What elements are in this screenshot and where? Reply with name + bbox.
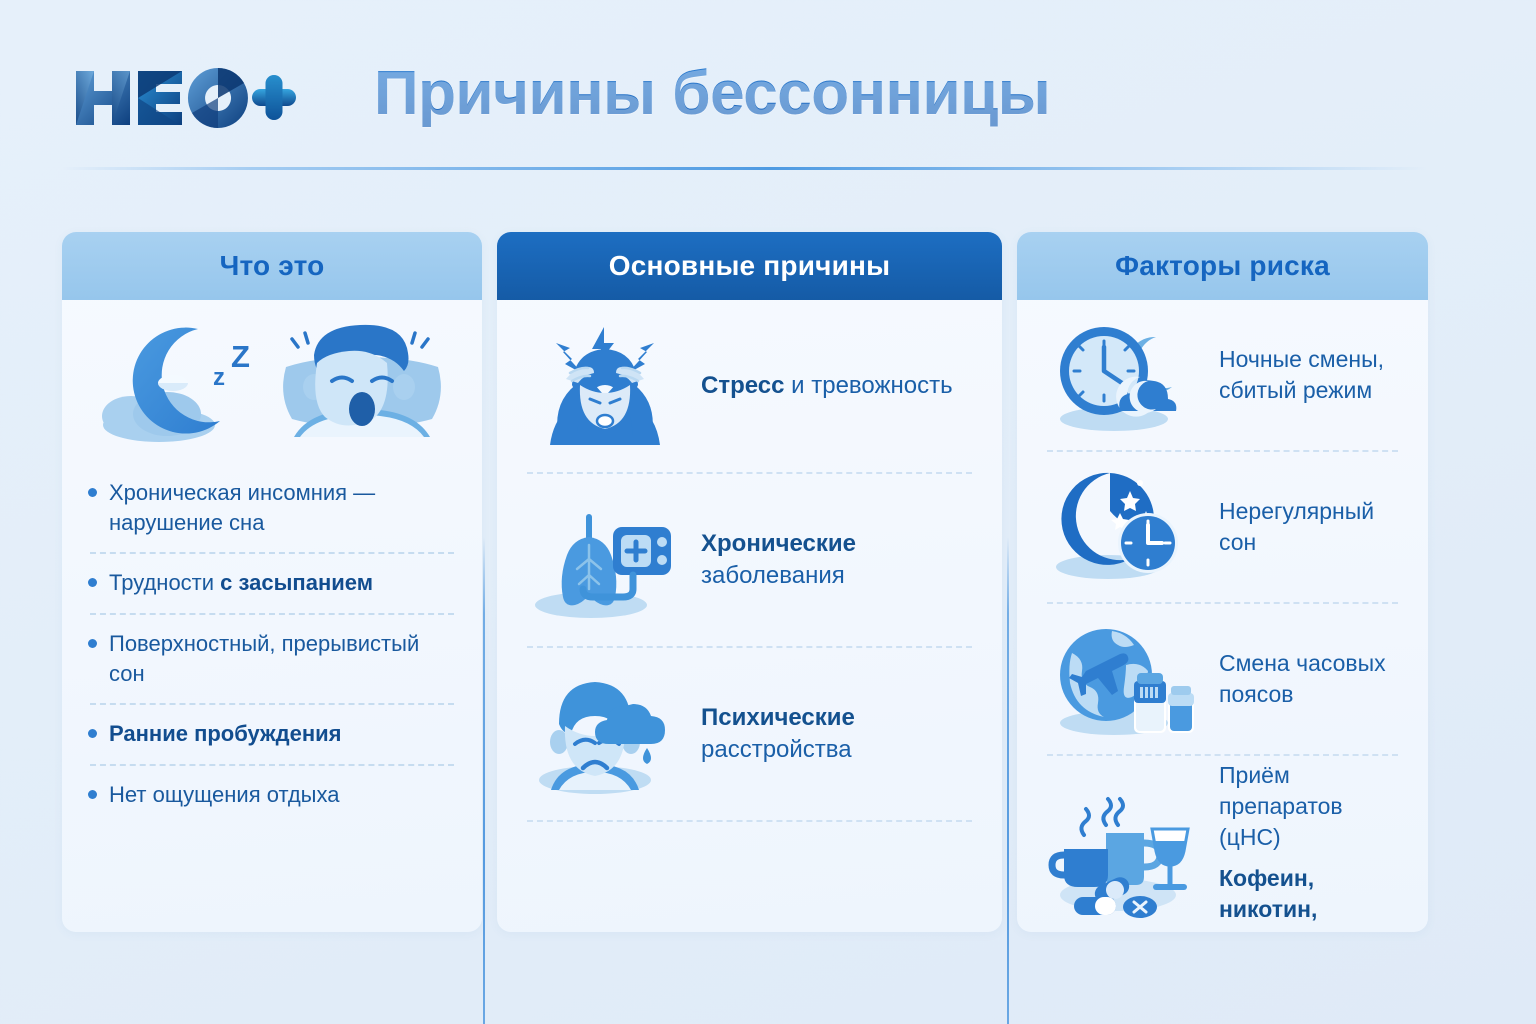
list-item-label: Смена часовых поясов bbox=[1219, 648, 1402, 710]
globe-airplane-pills-icon bbox=[1043, 617, 1203, 741]
svg-text:z: z bbox=[213, 364, 225, 391]
list-item[interactable]: Ранние пробуждения bbox=[88, 705, 456, 764]
list-item[interactable]: Стресс и тревожность bbox=[515, 300, 984, 472]
list-item-label: Поверхностный, прерывистый сон bbox=[109, 629, 456, 688]
card-header-main-causes: Основные причины bbox=[497, 232, 1002, 300]
bullet-dot-icon bbox=[88, 729, 97, 738]
bullet-dot-icon bbox=[88, 790, 97, 799]
card-header-what-is-it: Что это bbox=[62, 232, 482, 300]
bullet-dot-icon bbox=[88, 578, 97, 587]
list-item[interactable]: Хронические заболевания bbox=[515, 474, 984, 646]
page-title: Причины бессонницы bbox=[374, 58, 1050, 129]
list-item-label: Ночные смены, сбитый режим bbox=[1219, 344, 1402, 406]
risk-factors-list: Ночные смены, сбитый режим bbox=[1017, 300, 1428, 932]
list-item[interactable]: Поверхностный, прерывистый сон bbox=[88, 615, 456, 703]
svg-text:Z: Z bbox=[231, 339, 250, 374]
card-main-causes: Основные причины bbox=[497, 232, 1002, 932]
what-is-it-illustration: z Z bbox=[62, 300, 482, 460]
columns-container: Что это z Z bbox=[0, 232, 1536, 938]
neo-plus-logo bbox=[72, 62, 302, 134]
card-body-what-is-it: z Z bbox=[62, 300, 482, 825]
sad-face-raincloud-icon bbox=[525, 668, 685, 800]
card-what-is-it: Что это z Z bbox=[62, 232, 482, 932]
list-item[interactable]: Трудности с засыпанием bbox=[88, 554, 456, 613]
list-item-label: Приём препаратов (цНС) Кофеин, никотин, … bbox=[1219, 760, 1402, 932]
list-item[interactable]: Приём препаратов (цНС) Кофеин, никотин, … bbox=[1035, 756, 1410, 932]
card-body-main-causes: Стресс и тревожность bbox=[497, 300, 1002, 822]
list-item-label: Психические расстройства bbox=[701, 702, 974, 767]
card-body-risk-factors: Ночные смены, сбитый режим bbox=[1017, 300, 1428, 932]
yawning-person-icon bbox=[274, 315, 444, 445]
list-item[interactable]: Смена часовых поясов bbox=[1035, 604, 1410, 754]
crescent-stars-clock-icon bbox=[1043, 465, 1203, 589]
list-item-label: Нет ощущения отдыха bbox=[109, 780, 339, 810]
list-item[interactable]: Нет ощущения отдыха bbox=[88, 766, 456, 825]
stressed-head-icon bbox=[525, 320, 685, 452]
header-divider bbox=[62, 167, 1428, 170]
bullet-dot-icon bbox=[88, 639, 97, 648]
list-item-label: Ранние пробуждения bbox=[109, 719, 341, 749]
card-risk-factors: Факторы риска bbox=[1017, 232, 1428, 932]
list-item-label: Нерегулярный сон bbox=[1219, 496, 1402, 558]
list-item[interactable]: Хроническая инсомния — нарушение сна bbox=[88, 464, 456, 552]
list-item[interactable]: Ночные смены, сбитый режим bbox=[1035, 300, 1410, 450]
coffee-wine-pills-icon bbox=[1043, 796, 1203, 920]
lungs-blood-pressure-icon bbox=[525, 494, 685, 626]
list-separator bbox=[527, 820, 972, 822]
list-item[interactable]: Психические расстройства bbox=[515, 648, 984, 820]
list-item-label: Хроническая инсомния — нарушение сна bbox=[109, 478, 456, 537]
column-divider-1 bbox=[483, 537, 485, 1024]
list-item-label: Стресс и тревожность bbox=[701, 370, 953, 402]
bullet-dot-icon bbox=[88, 488, 97, 497]
card-header-risk-factors: Факторы риска bbox=[1017, 232, 1428, 300]
what-is-it-bullet-list: Хроническая инсомния — нарушение сна Тру… bbox=[62, 460, 482, 825]
page-header: Причины бессонницы bbox=[0, 0, 1536, 170]
list-item-label: Трудности с засыпанием bbox=[109, 568, 373, 598]
list-item-label: Хронические заболевания bbox=[701, 528, 974, 593]
column-divider-2 bbox=[1007, 537, 1009, 1024]
main-causes-list: Стресс и тревожность bbox=[497, 300, 1002, 822]
clock-moon-icon bbox=[1043, 313, 1203, 437]
list-item[interactable]: Нерегулярный сон bbox=[1035, 452, 1410, 602]
sleeping-moon-icon: z Z bbox=[101, 315, 266, 445]
